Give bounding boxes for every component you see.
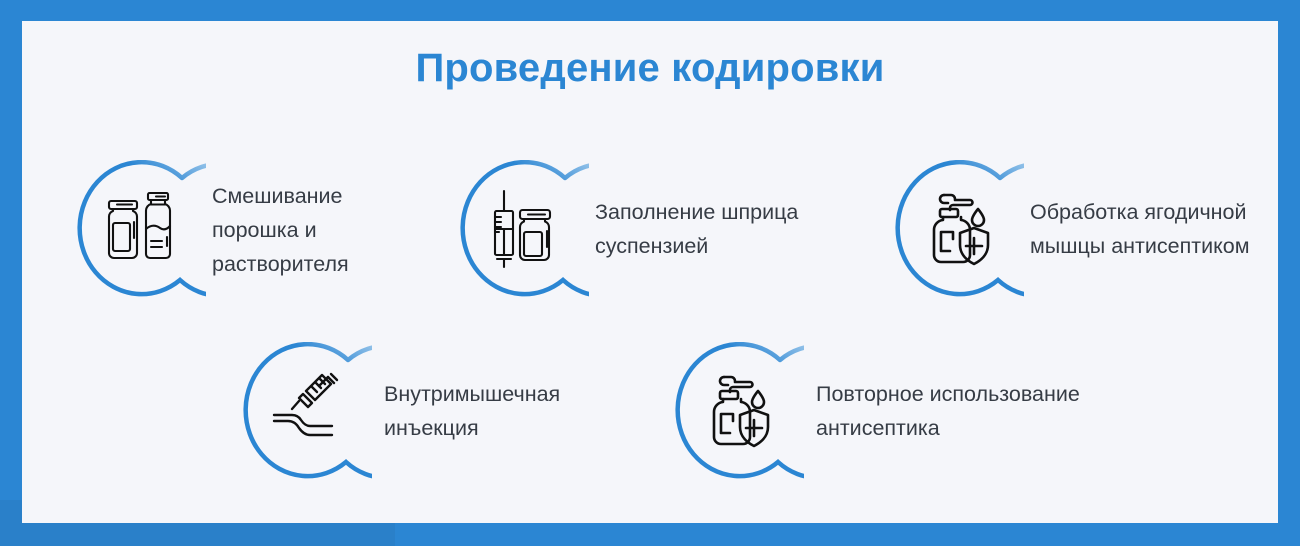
content-card: Проведение кодировки [22,21,1278,523]
steps-container: Смешивание порошка и растворителя [22,21,1278,523]
step-item-2: Заполнение шприца суспензией [459,160,798,298]
step-label-4: Внутримышечная инъекция [384,377,560,445]
step-item-4: Внутримышечная инъекция [242,342,560,480]
step-label-5: Повторное использование антисептика [816,377,1080,445]
step-badge-2 [459,160,589,298]
intramuscular-injection-icon [270,371,344,451]
step-badge-3 [894,160,1024,298]
step-label-2: Заполнение шприца суспензией [595,195,798,263]
two-vials-icon [104,189,178,269]
step-label-1: Смешивание порошка и растворителя [212,179,349,281]
step-badge-4 [242,342,372,480]
step-item-1: Смешивание порошка и растворителя [76,160,349,298]
infographic-poster: Проведение кодировки [0,0,1300,546]
step-badge-5 [674,342,804,480]
step-item-3: Обработка ягодичной мышцы антисептиком [894,160,1250,298]
step-badge-1 [76,160,206,298]
step-item-5: Повторное использование антисептика [674,342,1080,480]
step-label-3: Обработка ягодичной мышцы антисептиком [1030,195,1250,263]
antiseptic-dispenser-shield-icon [922,189,996,269]
antiseptic-dispenser-shield-icon [702,371,776,451]
syringe-and-vial-icon [487,189,561,269]
